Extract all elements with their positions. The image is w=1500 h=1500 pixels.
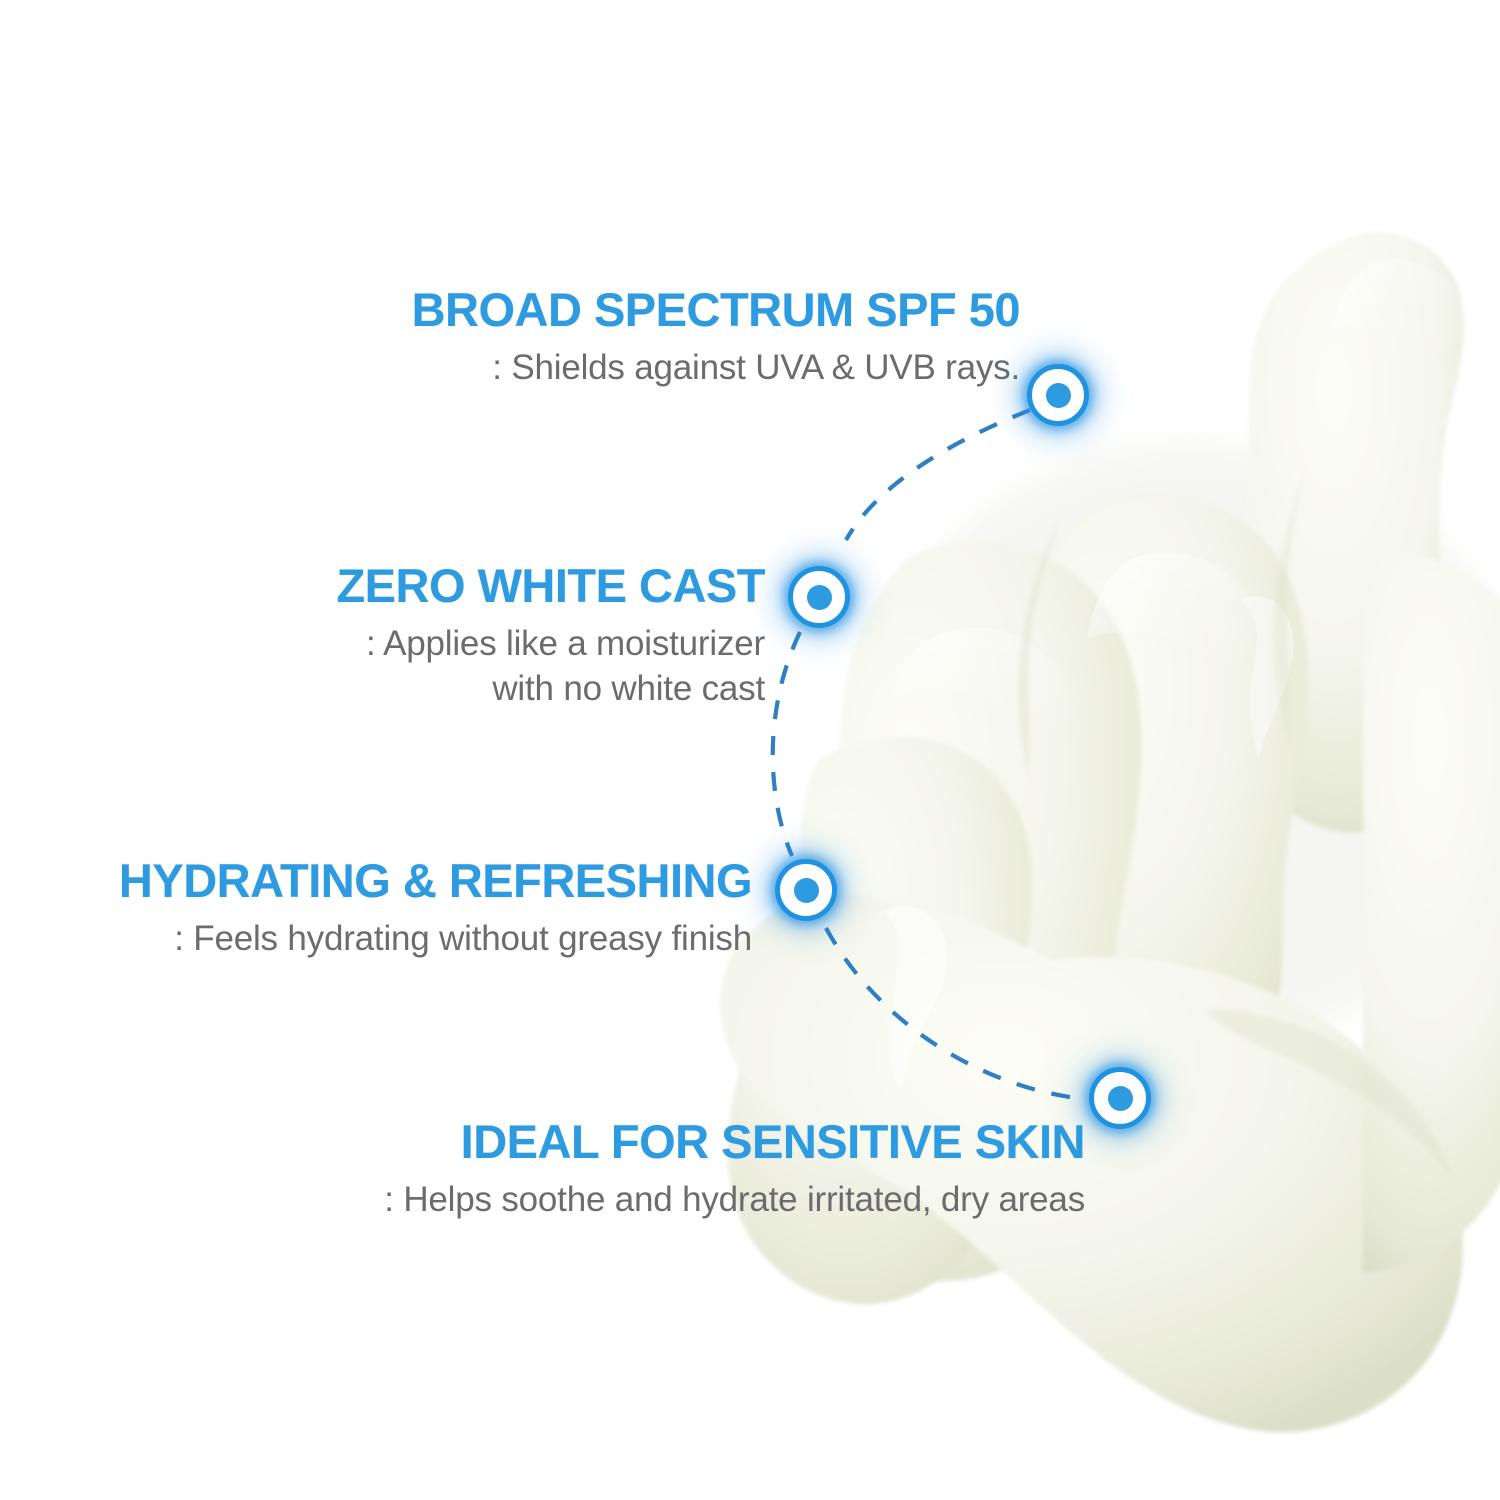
feature-marker-dot-icon <box>788 566 850 628</box>
feature-description: : Applies like a moisturizer with no whi… <box>336 622 765 712</box>
feature-title: ZERO WHITE CAST <box>336 562 765 610</box>
feature-block-zero-white-cast: ZERO WHITE CAST : Applies like a moistur… <box>336 562 765 712</box>
feature-description: : Feels hydrating without greasy finish <box>119 917 752 962</box>
cream-swatch-image <box>0 0 1500 1500</box>
feature-title: HYDRATING & REFRESHING <box>119 857 752 905</box>
product-infographic: BROAD SPECTRUM SPF 50 : Shields against … <box>0 0 1500 1500</box>
feature-block-broad-spectrum: BROAD SPECTRUM SPF 50 : Shields against … <box>412 286 1020 391</box>
feature-description: : Helps soothe and hydrate irritated, dr… <box>384 1178 1085 1223</box>
feature-block-sensitive-skin: IDEAL FOR SENSITIVE SKIN : Helps soothe … <box>384 1118 1085 1223</box>
feature-marker-dot-icon <box>1089 1067 1151 1129</box>
feature-title: BROAD SPECTRUM SPF 50 <box>412 286 1020 334</box>
feature-description: : Shields against UVA & UVB rays. <box>412 346 1020 391</box>
dashed-connector-path <box>0 0 1500 1500</box>
feature-block-hydrating-refreshing: HYDRATING & REFRESHING : Feels hydrating… <box>119 857 752 962</box>
feature-marker-dot-icon <box>1027 364 1089 426</box>
feature-title: IDEAL FOR SENSITIVE SKIN <box>384 1118 1085 1166</box>
feature-marker-dot-icon <box>775 859 837 921</box>
